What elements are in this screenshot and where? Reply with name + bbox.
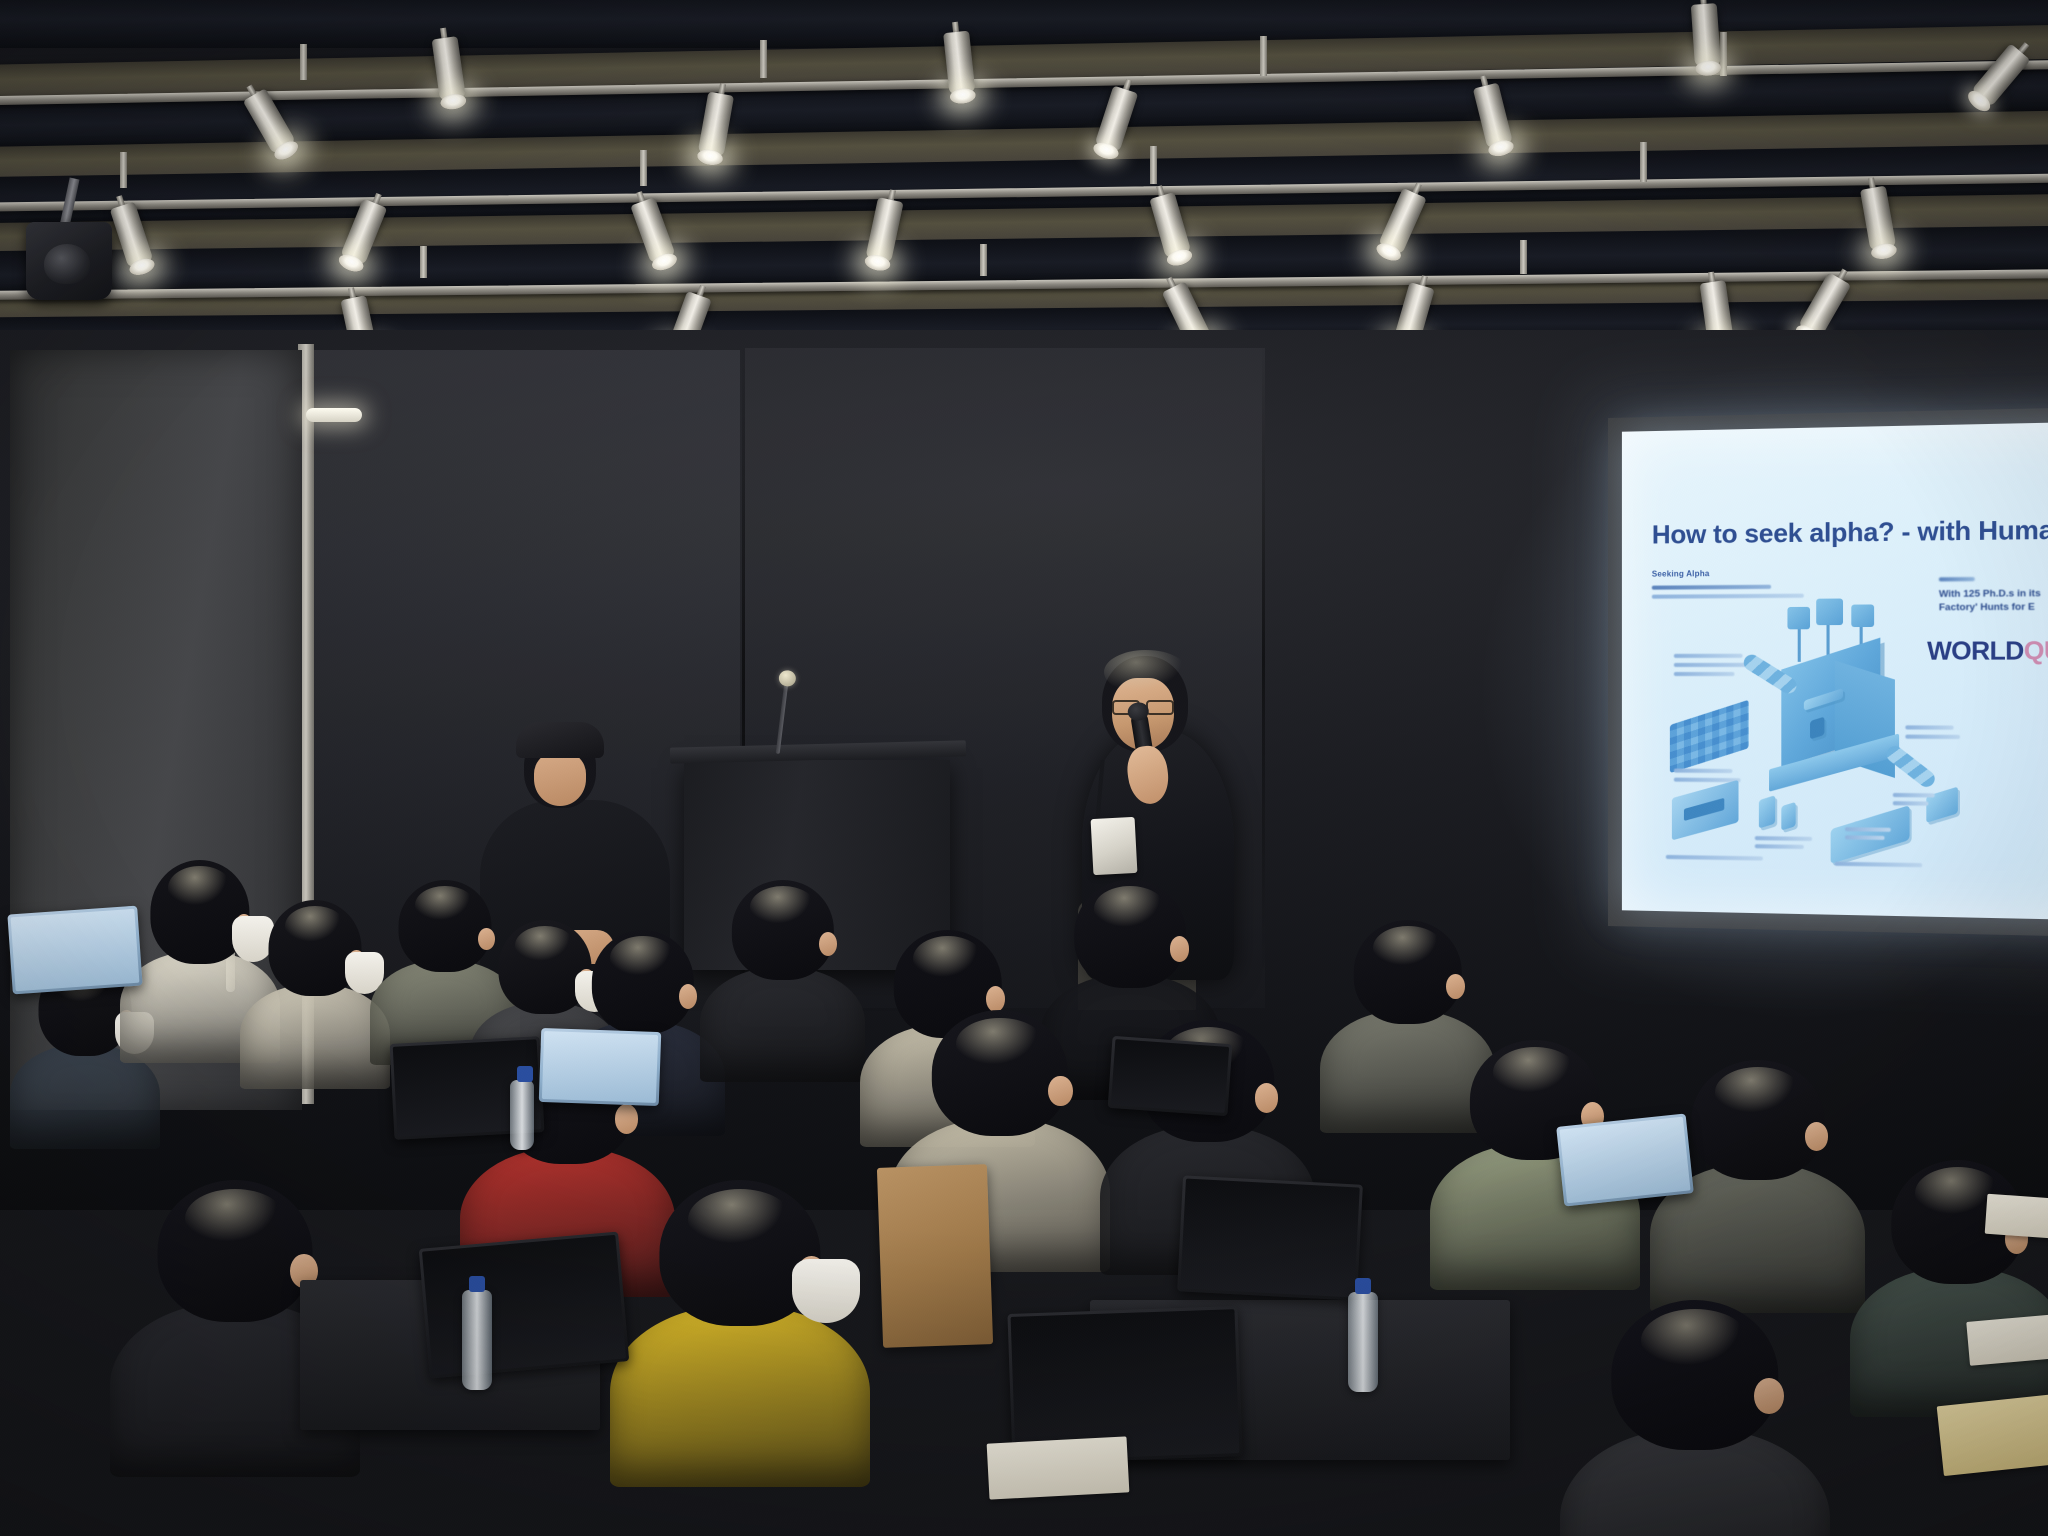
notebook-papers[interactable] [1966,1314,2048,1366]
audience-member [610,1180,870,1487]
ear [1255,1083,1279,1112]
projection-screen-frame: How to seek alpha? - with Human Seeking … [1608,407,2048,937]
face-mask [792,1259,860,1323]
audience-member [1560,1300,1830,1536]
audience-member-torso [610,1305,870,1487]
paper-bag[interactable] [877,1164,993,1348]
audience-laptop[interactable] [1556,1113,1694,1206]
audience-member [700,880,865,1082]
projection-screen: How to seek alpha? - with Human Seeking … [1622,422,2048,920]
audience-member-head [1691,1060,1824,1180]
ear [819,932,837,956]
water-bottle[interactable] [510,1080,534,1150]
conference-room-photo: How to seek alpha? - with Human Seeking … [0,0,2048,1536]
audience-member-head [591,930,693,1034]
notebook-papers[interactable] [987,1436,1130,1499]
ear [1754,1378,1784,1414]
audience-member-head [932,1010,1068,1136]
name-badge [1091,817,1138,875]
ear [679,984,697,1009]
audience-laptop[interactable] [539,1028,662,1106]
logo-text-quant: QUANT [2024,636,2048,665]
audience-laptop[interactable] [1177,1175,1363,1300]
audience-member [240,900,390,1089]
ceiling-security-camera [26,222,112,300]
track-spotlight [1690,0,1722,77]
wall-strip-lamp [306,408,362,422]
notebook-papers[interactable] [1985,1194,2048,1239]
audience-member-head [1074,880,1186,988]
audience-member-torso [700,967,865,1083]
ceiling-structure [0,0,2048,360]
audience-laptop[interactable] [1108,1036,1233,1116]
audience-member-head [158,1180,313,1322]
audience-member-head [1353,920,1462,1024]
audience-member-torso [240,984,390,1089]
water-bottle[interactable] [462,1290,492,1390]
ear [615,1104,639,1134]
slide-isometric-diagram [1662,589,1971,857]
ear [1446,974,1465,999]
ear [1048,1076,1072,1106]
ear [986,986,1005,1012]
ear [1805,1122,1829,1151]
audience-laptop[interactable] [7,906,142,995]
slide-kicker: Seeking Alpha [1652,569,1710,579]
ear [1170,936,1190,962]
audience-laptop[interactable] [419,1232,630,1379]
notebook-papers[interactable] [1937,1394,2048,1476]
audience-member-head [1611,1300,1778,1450]
slide-title: How to seek alpha? - with Human [1652,514,2048,551]
black-cap [516,722,604,758]
water-bottle[interactable] [1348,1292,1378,1392]
audience-member-head [731,880,833,980]
